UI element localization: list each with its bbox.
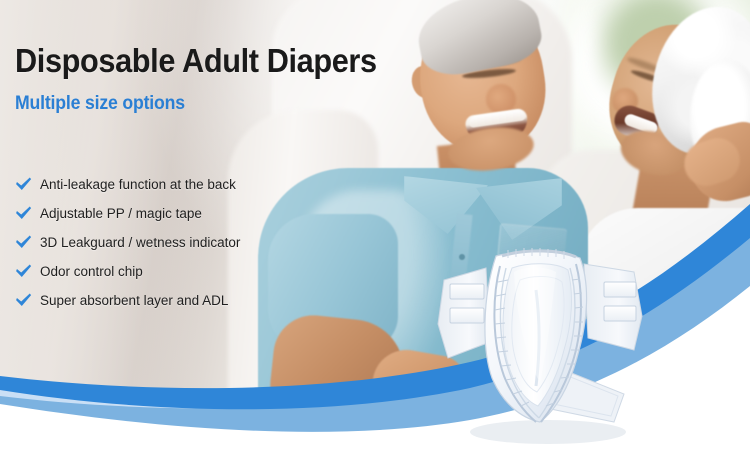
feature-list: Anti-leakage function at the back Adjust… <box>14 170 344 315</box>
feature-item: 3D Leakguard / wetness indicator <box>14 228 344 257</box>
check-icon <box>14 262 33 281</box>
check-icon <box>14 291 33 310</box>
feature-item: Anti-leakage function at the back <box>14 170 344 199</box>
check-icon <box>14 175 33 194</box>
diaper-tape-tab <box>450 308 484 323</box>
diaper-tape-tab <box>604 282 636 297</box>
feature-item: Super absorbent layer and ADL <box>14 286 344 315</box>
feature-item: Odor control chip <box>14 257 344 286</box>
check-icon <box>14 233 33 252</box>
diaper-tape-tab <box>604 306 636 321</box>
product-image-adult-diaper <box>428 246 666 446</box>
promo-banner: Disposable Adult Diapers Multiple size o… <box>0 0 750 450</box>
feature-label: 3D Leakguard / wetness indicator <box>40 235 240 250</box>
feature-label: Adjustable PP / magic tape <box>40 206 202 221</box>
feature-label: Odor control chip <box>40 264 143 279</box>
check-icon <box>14 204 33 223</box>
feature-label: Super absorbent layer and ADL <box>40 293 228 308</box>
feature-item: Adjustable PP / magic tape <box>14 199 344 228</box>
product-shadow <box>470 420 626 444</box>
diaper-tape-tab <box>450 284 484 299</box>
page-title: Disposable Adult Diapers <box>15 44 377 77</box>
feature-label: Anti-leakage function at the back <box>40 177 236 192</box>
page-subtitle: Multiple size options <box>15 94 185 113</box>
